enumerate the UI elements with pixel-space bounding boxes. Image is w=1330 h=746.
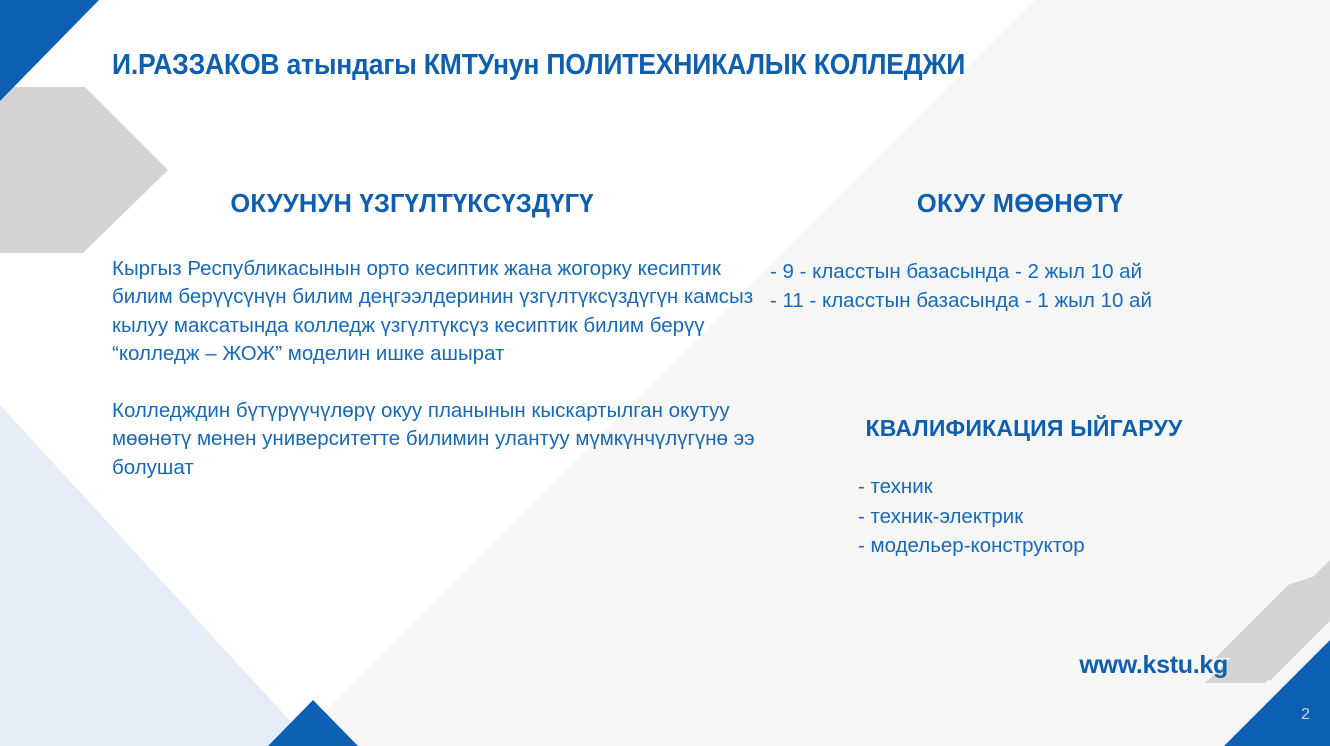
list-item: - модельер-конструктор <box>858 531 1270 560</box>
presentation-slide: И.РАЗЗАКОВ атындагы КМТУнун ПОЛИТЕХНИКАЛ… <box>0 0 1330 746</box>
slide-number: 2 <box>1301 706 1310 724</box>
duration-list: - 9 - класстын базасында - 2 жыл 10 ай -… <box>770 258 1270 315</box>
list-item: - техник <box>858 472 1270 501</box>
bottomright-gray-band <box>1215 571 1330 681</box>
right-content-column: ОКУУ МӨӨНӨТҮ - 9 - класстын базасында - … <box>770 190 1270 560</box>
left-content-column: ОКУУНУН ҮЗГҮЛТҮКСҮЗДҮГҮ Кыргыз Республик… <box>112 190 772 482</box>
left-paragraph-2: Колледждин бүтүрүүчүлөрү окуу планынын к… <box>112 397 772 482</box>
left-column-heading: ОКУУНУН ҮЗГҮЛТҮКСҮЗДҮГҮ <box>112 190 772 219</box>
list-item: - 11 - класстын базасында - 1 жыл 10 ай <box>770 287 1270 316</box>
topleft-blue-triangle <box>0 0 99 101</box>
list-item: - 9 - класстын базасында - 2 жыл 10 ай <box>770 258 1270 287</box>
website-link[interactable]: www.kstu.kg <box>1079 651 1228 680</box>
list-item: - техник-электрик <box>858 502 1270 531</box>
duration-heading: ОКУУ МӨӨНӨТҮ <box>770 190 1270 219</box>
bottom-center-blue-triangle <box>268 700 358 746</box>
page-title: И.РАЗЗАКОВ атындагы КМТУнун ПОЛИТЕХНИКАЛ… <box>112 49 965 82</box>
qualification-list: - техник - техник-электрик - модельер-ко… <box>858 472 1270 560</box>
bottomright-blue-triangle <box>1224 640 1330 746</box>
qualification-heading: КВАЛИФИКАЦИЯ ЫЙГАРУУ <box>770 415 1270 442</box>
left-paragraph-1: Кыргыз Республикасынын орто кесиптик жан… <box>112 255 772 369</box>
